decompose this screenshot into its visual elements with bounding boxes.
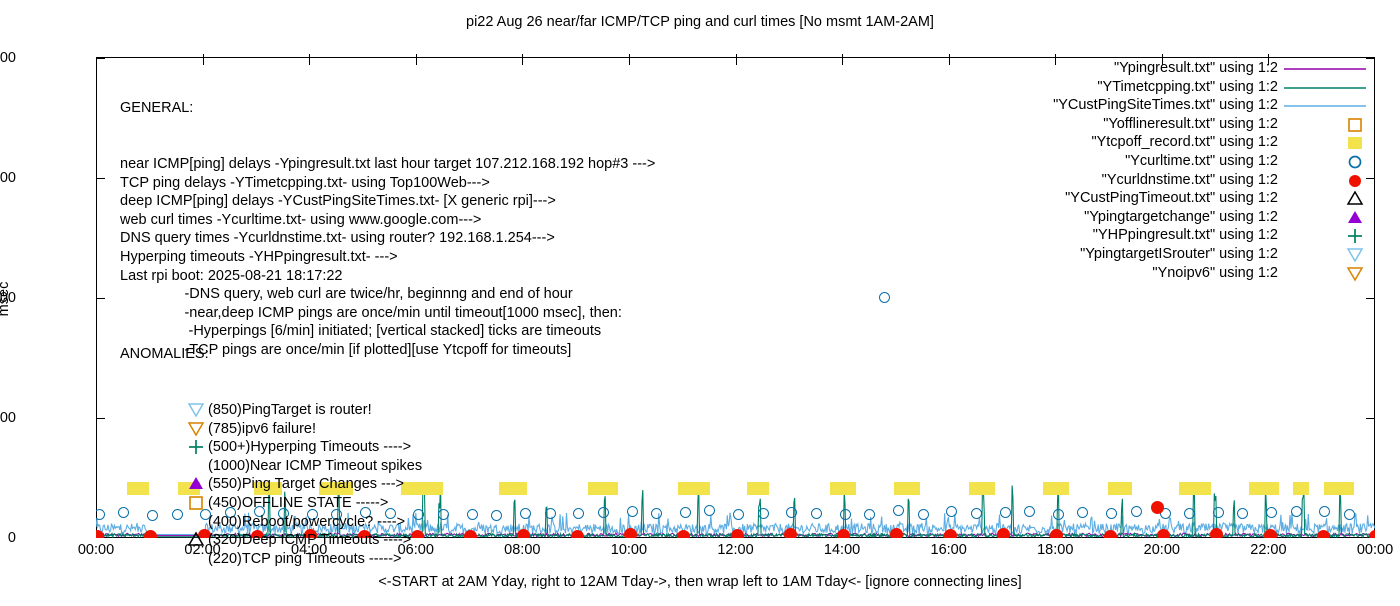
- x-tick-12-00-6: 12:00: [717, 542, 753, 558]
- general-line-3: web curl times -Ycurltime.txt- using www…: [120, 211, 655, 230]
- legend-label-5: "Ycurltime.txt" using 1:2: [1125, 153, 1278, 169]
- curl-time-point: [1266, 507, 1277, 518]
- square-open-orange-icon: [186, 494, 206, 512]
- y-tick-0: 0: [0, 530, 16, 546]
- legend-symbol-square-open-3: [1282, 116, 1370, 135]
- legend-row-11: "Ynoipv6" using 1:2: [930, 265, 1370, 284]
- legend-symbol-tri-open-7: [1282, 190, 1370, 209]
- anomaly-label-3: (1000)Near ICMP Timeout spikes: [208, 458, 422, 474]
- curl-time-point: [491, 510, 502, 521]
- tcp-timeout-bar: [499, 482, 527, 495]
- down-triangle-open-orange-icon: [186, 420, 206, 438]
- legend-symbol-dtri-open-10: [1282, 246, 1370, 265]
- legend-row-7: "YCustPingTimeout.txt" using 1:2: [930, 190, 1370, 209]
- legend-row-2: "YCustPingSiteTimes.txt" using 1:2: [930, 97, 1370, 116]
- dns-time-point: [624, 528, 637, 538]
- dns-time-point: [1157, 529, 1170, 538]
- tcp-timeout-bar: [1293, 482, 1309, 495]
- y-tick-1000: 1000: [0, 290, 16, 306]
- legend-label-9: "YHPpingresult.txt" using 1:2: [1093, 227, 1278, 243]
- anomaly-row-0: (850)PingTarget is router!: [208, 401, 422, 420]
- tcp-timeout-bar: [969, 482, 995, 495]
- x-tick-18-00-9: 18:00: [1037, 542, 1073, 558]
- x-tick-10-00-5: 10:00: [611, 542, 647, 558]
- x-tick-16-00-8: 16:00: [931, 542, 967, 558]
- anomaly-row-8: (220)TCP ping Timeouts ----->: [208, 550, 422, 569]
- curl-time-point: [1291, 506, 1302, 517]
- anomaly-label-2: (500+)Hyperping Timeouts ---->: [208, 439, 411, 455]
- anomaly-row-3: (1000)Near ICMP Timeout spikes: [208, 457, 422, 476]
- general-line-5: Hyperping timeouts -YHPpingresult.txt- -…: [120, 248, 655, 267]
- legend-symbol-circle-filled-6: [1282, 172, 1370, 191]
- dns-time-point: [1264, 529, 1277, 538]
- legend-symbol-plus-9: [1282, 227, 1370, 246]
- anomaly-label-1: (785)ipv6 failure!: [208, 421, 316, 437]
- curl-time-point: [1213, 507, 1224, 518]
- curl-time-point: [467, 509, 478, 520]
- anomaly-label-0: (850)PingTarget is router!: [208, 402, 372, 418]
- plus-teal-icon: [186, 438, 206, 456]
- anomaly-label-5: (450)OFFLINE STATE ----->: [208, 495, 388, 511]
- tcp-timeout-bar: [747, 482, 769, 495]
- x-tick-22-00-11: 22:00: [1250, 542, 1286, 558]
- x-tick-00-00-12: 00:00: [1357, 542, 1393, 558]
- legend: "Ypingresult.txt" using 1:2"YTimetcpping…: [930, 60, 1370, 283]
- legend-row-6: "Ycurldnstime.txt" using 1:2: [930, 172, 1370, 191]
- dns-time-point: [997, 528, 1010, 538]
- legend-label-11: "Ynoipv6" using 1:2: [1152, 265, 1278, 281]
- legend-symbol-line-1: [1282, 79, 1370, 98]
- legend-row-3: "Yofflineresult.txt" using 1:2: [930, 116, 1370, 135]
- curl-time-point: [598, 507, 609, 518]
- anomalies-heading: ANOMALIES:: [120, 345, 422, 364]
- triangle-filled-purple-icon: [186, 475, 206, 493]
- curl-time-point: [438, 509, 449, 520]
- tcp-timeout-bar: [1249, 482, 1279, 495]
- dns-time-point: [784, 528, 797, 538]
- dns-time-point: [731, 529, 744, 538]
- page-title: pi22 Aug 26 near/far ICMP/TCP ping and c…: [0, 14, 1400, 30]
- down-triangle-open-lightblue-icon: [186, 401, 206, 419]
- curl-time-point: [1053, 509, 1064, 520]
- legend-label-8: "Ypingtargetchange" using 1:2: [1084, 209, 1278, 225]
- tcp-timeout-bar: [830, 482, 856, 495]
- legend-symbol-tri-filled-8: [1282, 209, 1370, 228]
- tcp-timeout-bar: [894, 482, 920, 495]
- tcp-timeout-bar: [1179, 482, 1211, 495]
- x-tick-08-00-4: 08:00: [504, 542, 540, 558]
- anomaly-row-5: (450)OFFLINE STATE ----->: [208, 494, 422, 513]
- anomaly-row-2: (500+)Hyperping Timeouts ---->: [208, 438, 422, 457]
- dns-time-point: [1317, 530, 1330, 538]
- legend-row-4: "Ytcpoff_record.txt" using 1:2: [930, 134, 1370, 153]
- chart-page: pi22 Aug 26 near/far ICMP/TCP ping and c…: [0, 0, 1400, 600]
- anomaly-label-4: (550)Ping Target Changes --->: [208, 476, 404, 492]
- legend-symbol-square-filled-4: [1282, 134, 1370, 153]
- legend-label-4: "Ytcpoff_record.txt" using 1:2: [1091, 134, 1278, 150]
- curl-time-point: [1344, 509, 1355, 520]
- legend-symbol-dtri-open-11: [1282, 265, 1370, 284]
- legend-label-0: "Ypingresult.txt" using 1:2: [1114, 60, 1278, 76]
- general-line-4: DNS query times -Ycurldnstime.txt- using…: [120, 229, 655, 248]
- tcp-timeout-bar: [1043, 482, 1069, 495]
- y-tick-1500: 1500: [0, 170, 16, 186]
- legend-label-3: "Yofflineresult.txt" using 1:2: [1103, 116, 1278, 132]
- x-tick-14-00-7: 14:00: [824, 542, 860, 558]
- anomaly-row-1: (785)ipv6 failure!: [208, 420, 422, 439]
- tcp-timeout-bar: [678, 482, 710, 495]
- general-line-6: Last rpi boot: 2025-08-21 18:17:22: [120, 267, 655, 286]
- legend-row-1: "YTimetcpping.txt" using 1:2: [930, 79, 1370, 98]
- dns-time-point: [1151, 501, 1164, 514]
- dns-time-point: [1050, 529, 1063, 538]
- legend-row-9: "YHPpingresult.txt" using 1:2: [930, 227, 1370, 246]
- curl-time-point: [627, 506, 638, 517]
- anomaly-row-6: (400)Reboot/powercycle? ---->: [208, 513, 422, 532]
- general-heading: GENERAL:: [120, 99, 655, 118]
- dns-time-point: [837, 529, 850, 538]
- general-line-1: TCP ping delays -YTimetcpping.txt- using…: [120, 174, 655, 193]
- curl-time-point: [545, 508, 556, 519]
- curl-time-point: [840, 509, 851, 520]
- legend-row-5: "Ycurltime.txt" using 1:2: [930, 153, 1370, 172]
- legend-label-2: "YCustPingSiteTimes.txt" using 1:2: [1053, 97, 1278, 113]
- dns-time-point: [944, 529, 957, 538]
- triangle-open-black-icon: [186, 531, 206, 549]
- anomaly-row-4: (550)Ping Target Changes --->: [208, 475, 422, 494]
- dns-time-point: [1210, 528, 1223, 538]
- legend-row-8: "Ypingtargetchange" using 1:2: [930, 209, 1370, 228]
- legend-label-6: "Ycurldnstime.txt" using 1:2: [1102, 172, 1278, 188]
- curl-time-point: [946, 506, 957, 517]
- legend-symbol-line-0: [1282, 60, 1370, 79]
- curl-time-point: [1131, 506, 1142, 517]
- legend-label-1: "YTimetcpping.txt" using 1:2: [1097, 79, 1278, 95]
- general-line-7: -DNS query, web curl are twice/hr, begin…: [120, 285, 655, 304]
- legend-row-10: "YpingtargetISrouter" using 1:2: [930, 246, 1370, 265]
- legend-symbol-circle-open-5: [1282, 153, 1370, 172]
- curl-time-point: [1000, 507, 1011, 518]
- curl-time-point: [971, 508, 982, 519]
- dns-time-point: [1104, 530, 1117, 539]
- curl-time-point: [520, 508, 531, 519]
- anomalies-annotation: ANOMALIES: (850)PingTarget is router!(78…: [120, 308, 422, 606]
- x-tick-00-00-0: 00:00: [78, 542, 114, 558]
- legend-row-0: "Ypingresult.txt" using 1:2: [930, 60, 1370, 79]
- dns-time-point: [890, 528, 903, 538]
- curl-time-point: [918, 509, 929, 520]
- y-tick-500: 500: [0, 410, 16, 426]
- anomaly-label-6: (400)Reboot/powercycle? ---->: [208, 514, 405, 530]
- x-axis-caption: <-START at 2AM Yday, right to 12AM Tday-…: [0, 574, 1400, 590]
- anomaly-label-7: (320)Deep ICMP Timeouts ---->: [208, 532, 411, 548]
- legend-label-7: "YCustPingTimeout.txt" using 1:2: [1065, 190, 1278, 206]
- legend-label-10: "YpingtargetISrouter" using 1:2: [1080, 246, 1278, 262]
- legend-symbol-line-2: [1282, 97, 1370, 116]
- general-line-2: deep ICMP[ping] delays -YCustPingSiteTim…: [120, 192, 655, 211]
- general-line-0: near ICMP[ping] delays -Ypingresult.txt …: [120, 155, 655, 174]
- tcp-timeout-bar: [1324, 482, 1354, 495]
- tcp-timeout-bar: [588, 482, 618, 495]
- anomaly-row-7: (320)Deep ICMP Timeouts ---->: [208, 531, 422, 550]
- x-tick-20-00-10: 20:00: [1144, 542, 1180, 558]
- dns-time-point: [571, 530, 584, 538]
- y-tick-2000: 2000: [0, 50, 16, 66]
- anomaly-label-8: (220)TCP ping Timeouts ----->: [208, 551, 402, 567]
- tcp-timeout-bar: [1108, 482, 1132, 495]
